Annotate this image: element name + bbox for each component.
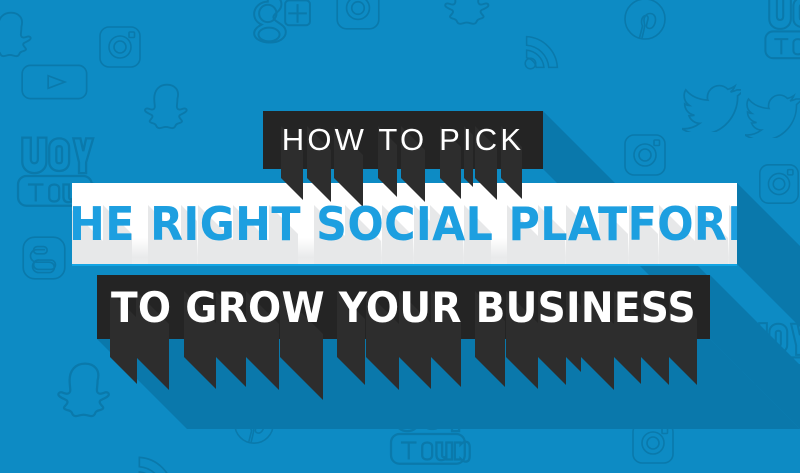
headline-block-2: THE RIGHT SOCIAL PLATFORM xyxy=(72,183,737,264)
pinterest-icon xyxy=(230,400,278,448)
youtube-play-icon xyxy=(18,56,91,108)
snapchat-ghost-icon xyxy=(50,358,120,428)
rss-feed-icon xyxy=(518,28,566,76)
twitter-bird-icon xyxy=(745,88,800,138)
snapchat-ghost-icon xyxy=(138,80,196,138)
twitter-bird-icon xyxy=(682,78,741,132)
headline-line-2: THE RIGHT SOCIAL PLATFORM xyxy=(72,197,737,251)
youtube-wordmark-icon xyxy=(736,318,800,388)
blogger-icon xyxy=(18,232,70,284)
googleplus-icon xyxy=(243,0,317,50)
headline-block-3: TO GROW YOUR BUSINESS xyxy=(97,275,710,339)
headline-line-3: TO GROW YOUR BUSINESS xyxy=(111,283,696,332)
headline-line-1: HOW TO PICK xyxy=(282,122,524,158)
youtube-wordmark-icon xyxy=(760,0,800,62)
long-shadow-block-3 xyxy=(710,275,800,429)
band-underline-accent xyxy=(72,264,737,266)
long-shadow-block-2 xyxy=(737,183,800,327)
pinterest-icon xyxy=(620,0,670,44)
snapchat-ghost-icon xyxy=(0,8,40,66)
instagram-icon xyxy=(755,160,800,208)
instagram-icon xyxy=(95,22,145,72)
headline-block-1: HOW TO PICK xyxy=(263,111,543,169)
youtube-wordmark-icon xyxy=(385,390,471,468)
instagram-icon xyxy=(620,130,670,180)
banner-canvas: HOW TO PICK THE RIGHT SOCIAL PLATFORM TO… xyxy=(0,0,800,473)
instagram-icon xyxy=(332,0,384,34)
long-shadow-block-1 xyxy=(543,111,800,426)
rss-feed-icon xyxy=(130,448,182,473)
snapchat-ghost-icon xyxy=(438,0,498,34)
instagram-icon xyxy=(628,418,678,468)
